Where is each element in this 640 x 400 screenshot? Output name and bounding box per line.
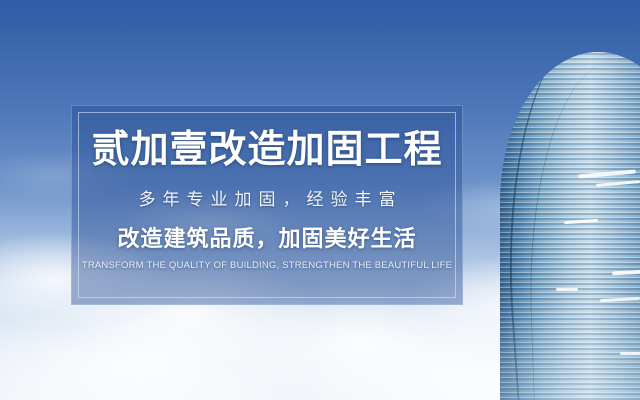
panel-content: 贰加壹改造加固工程 多年专业加固，经验丰富 改造建筑品质，加固美好生活 TRAN…	[71, 105, 463, 305]
banner-image: 贰加壹改造加固工程 多年专业加固，经验丰富 改造建筑品质，加固美好生活 TRAN…	[0, 0, 640, 400]
banner-slogan: 改造建筑品质，加固美好生活	[117, 228, 416, 250]
skyscraper-icon	[480, 0, 640, 400]
banner-headline: 贰加壹改造加固工程	[91, 131, 442, 169]
text-overlay-panel: 贰加壹改造加固工程 多年专业加固，经验丰富 改造建筑品质，加固美好生活 TRAN…	[71, 105, 463, 305]
banner-slogan-english: TRANSFORM THE QUALITY OF BUILDING, STREN…	[82, 261, 452, 271]
banner-subline: 多年专业加固，经验丰富	[132, 191, 403, 208]
skyscraper-body	[500, 52, 640, 400]
skyscraper-atmospheric-haze	[500, 52, 640, 400]
